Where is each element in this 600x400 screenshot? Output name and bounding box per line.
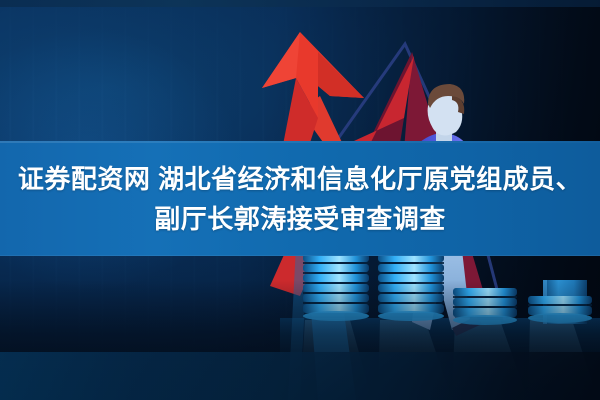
headline-line-1: 证券配资网 湖北省经济和信息化厅原党组成员、 bbox=[18, 160, 582, 198]
news-banner-image: 证券配资网 湖北省经济和信息化厅原党组成员、 副厅长郭涛接受审查调查 bbox=[0, 0, 600, 400]
bottom-horizon-band bbox=[0, 352, 600, 400]
headline: 证券配资网 湖北省经济和信息化厅原党组成员、 副厅长郭涛接受审查调查 bbox=[0, 141, 600, 256]
headline-line-2: 副厅长郭涛接受审查调查 bbox=[154, 200, 446, 238]
